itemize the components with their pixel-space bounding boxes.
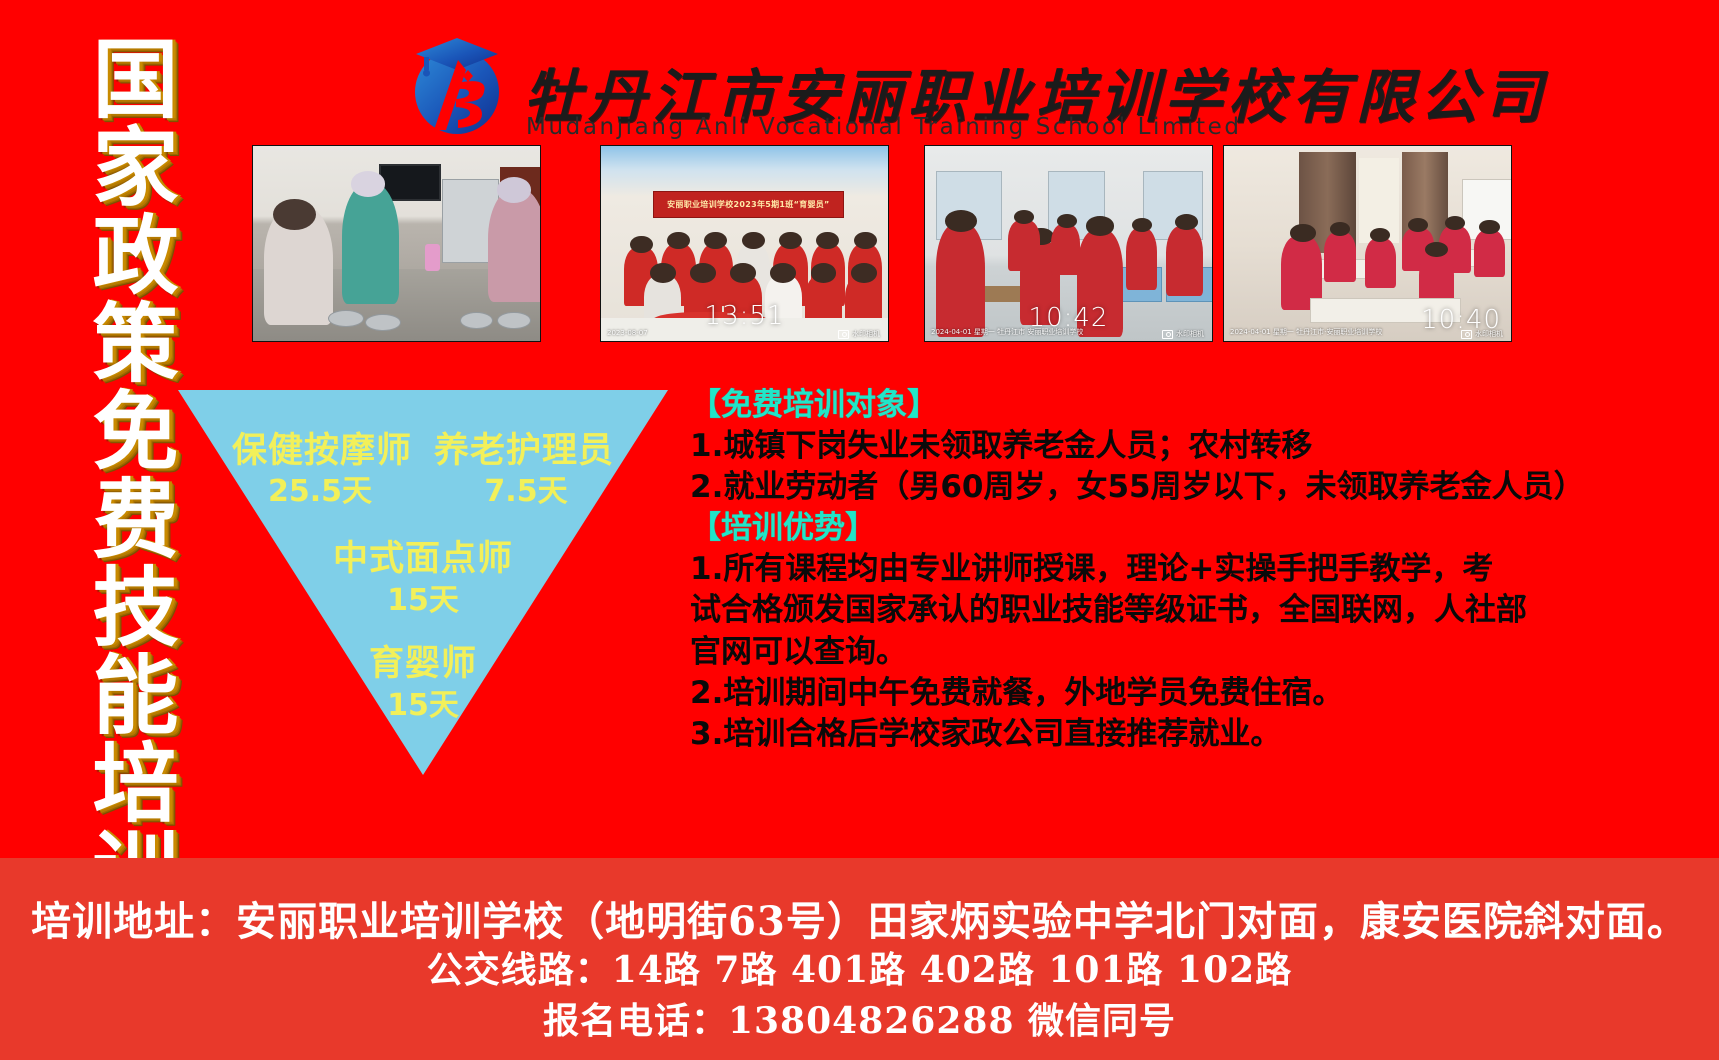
group-photo-2023-class: 安丽职业培训学校2023年5期1班“育婴员” (600, 145, 889, 342)
info-line-adv-3: 3.培训合格后学校家政公司直接推荐就业。 (690, 714, 1690, 755)
photo-strip: 安丽职业培训学校2023年5期1班“育婴员” (252, 145, 1502, 343)
watermark-camera-icon: 水印相机 (1162, 329, 1204, 339)
graduation-cap-emblem-icon (398, 26, 516, 138)
course-days-2: 15天 (387, 575, 459, 619)
watermark-camera-icon: 水印相机 (1461, 329, 1503, 339)
info-column: 【免费培训对象】 1.城镇下岗失业未领取养老金人员；农村转移 2.就业劳动者（男… (690, 385, 1690, 755)
footer-address: 培训地址：安丽职业培训学校（地明街63号）田家炳实验中学北门对面，康安医院斜对面… (0, 889, 1719, 947)
course-name-3: 育婴师 (369, 635, 477, 686)
watermark-label: 水印相机 (1475, 329, 1503, 339)
course-name-2: 中式面点师 (333, 530, 513, 581)
photo-banner-text: 安丽职业培训学校2023年5期1班“育婴员” (667, 199, 830, 210)
info-line-adv-1b: 试合格颁发国家承认的职业技能等级证书，全国联网，人社部 (690, 590, 1690, 631)
company-header: 牡丹江市安丽职业培训学校有限公司 Mudanjiang Anli Vocatio… (398, 22, 1298, 142)
courses-triangle: 保健按摩师 养老护理员 25.5天 7.5天 中式面点师 15天 育婴师 15天 (178, 390, 668, 775)
vertical-headline: 国家政策免费技能培训 (62, 34, 170, 914)
info-line-target-1: 1.城镇下岗失业未领取养老金人员；农村转移 (690, 426, 1690, 467)
watermark-label: 水印相机 (852, 329, 880, 339)
photo-timestamp: 13:51 (601, 301, 888, 331)
photo-datestamp: 2024-04-01 星期一 牡丹江市 安丽职业培训学校 (931, 327, 1083, 337)
company-name-en: Mudanjiang Anli Vocational Training Scho… (526, 114, 1242, 140)
poster-canvas: 国家政策免费技能培训 牡丹江市安丽职业培训学校 (0, 0, 1719, 1060)
info-line-adv-2: 2.培训期间中午免费就餐，外地学员免费住宿。 (690, 673, 1690, 714)
watermark-camera-icon: 水印相机 (838, 329, 880, 339)
course-days-3: 15天 (387, 680, 459, 724)
course-days-0: 25.5天 (217, 466, 423, 510)
photo-datestamp: 2023-08-07 (607, 329, 648, 337)
course-days-1: 7.5天 (423, 466, 629, 510)
classroom-lecture-photo: 10:40 2024-04-01 星期一 牡丹江市·安丽职业培训学校 水印相机 (1223, 145, 1512, 342)
info-line-adv-1a: 1.所有课程均由专业讲师授课，理论+实操手把手教学，考 (690, 549, 1690, 590)
nursing-training-photo: 10:42 2024-04-01 星期一 牡丹江市 安丽职业培训学校 水印相机 (924, 145, 1213, 342)
section-title-free-training-targets: 【免费培训对象】 (690, 385, 1690, 426)
info-line-target-2: 2.就业劳动者（男60周岁，女55周岁以下，未领取养老金人员） (690, 467, 1690, 508)
section-title-training-advantages: 【培训优势】 (690, 508, 1690, 549)
pastry-class-photo (252, 145, 541, 342)
contact-footer: 培训地址：安丽职业培训学校（地明街63号）田家炳实验中学北门对面，康安医院斜对面… (0, 858, 1719, 1060)
photo-datestamp: 2024-04-01 星期一 牡丹江市·安丽职业培训学校 (1230, 327, 1382, 337)
footer-phone[interactable]: 报名电话：13804826288 微信同号 (0, 992, 1719, 1044)
footer-bus-routes: 公交线路：14路 7路 401路 402路 101路 102路 (0, 941, 1719, 993)
watermark-label: 水印相机 (1176, 329, 1204, 339)
info-line-adv-1c: 官网可以查询。 (690, 632, 1690, 673)
